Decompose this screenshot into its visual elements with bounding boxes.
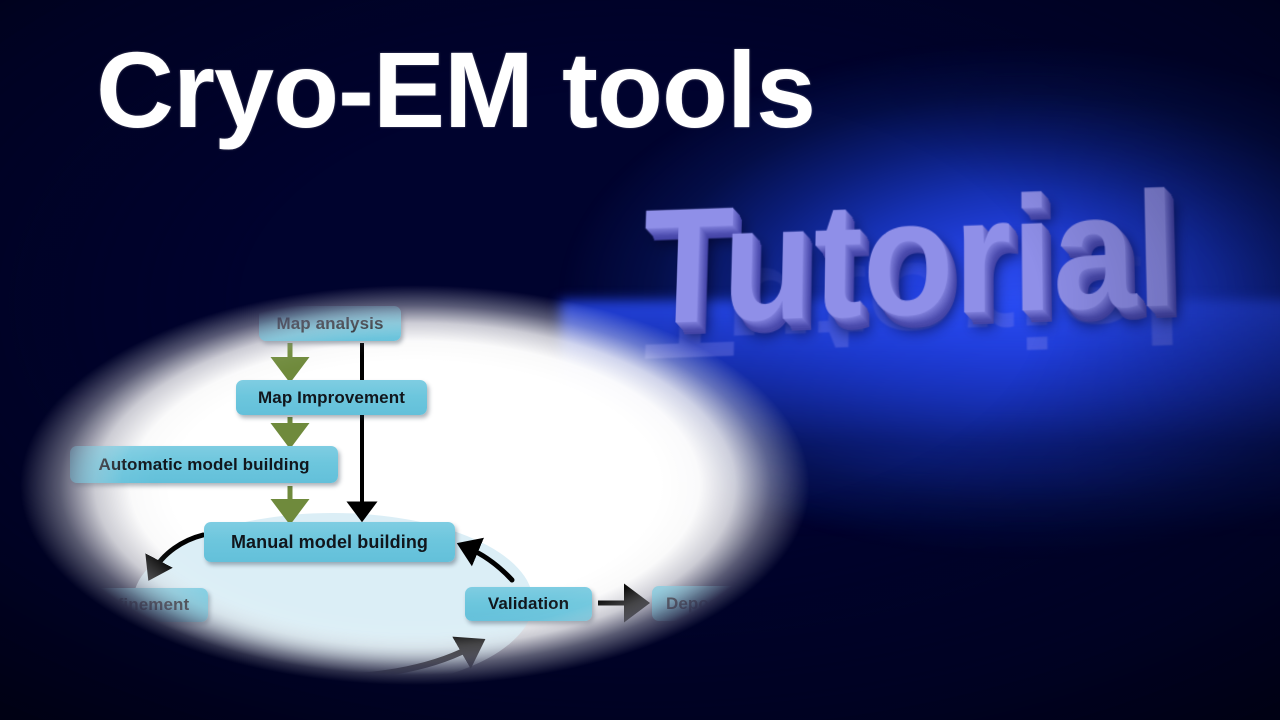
flow-node-label: Manual model building <box>231 532 428 553</box>
flow-node-label: Refinement <box>96 595 190 615</box>
flow-node-validation[interactable]: Validation <box>465 587 592 621</box>
slide-title: Cryo-EM tools <box>96 36 815 144</box>
flow-node-label: Deposition <box>666 594 755 614</box>
flow-node-map-analysis[interactable]: Map analysis <box>259 306 401 341</box>
flow-node-automatic-model-building[interactable]: Automatic model building <box>70 446 338 483</box>
flow-node-label: Validation <box>488 594 569 614</box>
flow-node-deposition[interactable]: Deposition <box>652 586 784 621</box>
flow-node-label: Automatic model building <box>98 455 309 475</box>
slide-canvas: Tutorial Tutorial Cryo-EM tools <box>0 0 1280 720</box>
flow-node-label: Map analysis <box>276 314 383 334</box>
flow-node-map-improvement[interactable]: Map Improvement <box>236 380 427 415</box>
flow-node-manual-model-building[interactable]: Manual model building <box>204 522 455 562</box>
flowchart-region: Map analysis Map Improvement Automatic m… <box>20 285 810 685</box>
flow-node-label: Map Improvement <box>258 388 405 408</box>
flow-node-refinement[interactable]: Refinement <box>77 588 208 622</box>
